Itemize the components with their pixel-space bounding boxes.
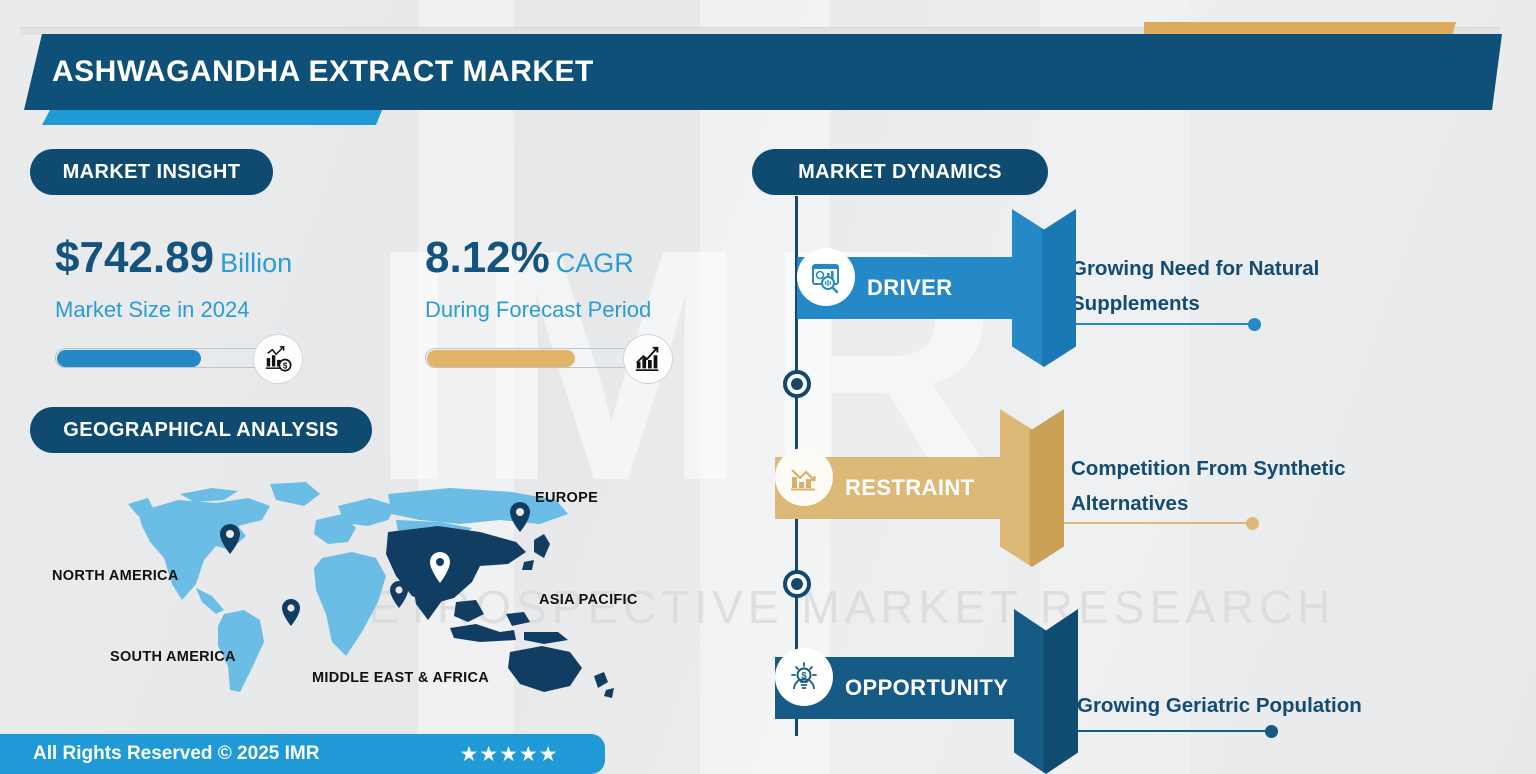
header-underline-accent bbox=[42, 110, 382, 125]
section-label-market-dynamics: MARKET DYNAMICS bbox=[752, 149, 1048, 195]
dynamics-text-opportunity: Growing Geriatric Population bbox=[1077, 688, 1437, 723]
page-title: ASHWAGANDHA EXTRACT MARKET bbox=[52, 52, 1252, 92]
infographic-canvas: IMR RETROSPECTIVE MARKET RESEARCH ASHWAG… bbox=[0, 0, 1536, 774]
rating-stars: ★★★★★ bbox=[459, 742, 558, 767]
kpi-value: $742.89 bbox=[55, 233, 214, 282]
kpi-caption: During Forecast Period bbox=[425, 297, 655, 323]
dynamics-rule-driver bbox=[1065, 323, 1255, 325]
svg-text:$: $ bbox=[283, 361, 288, 370]
ribbon-driver bbox=[1012, 209, 1076, 367]
kpi-unit: CAGR bbox=[556, 248, 634, 278]
kpi-value-row: 8.12%CAGR bbox=[425, 232, 655, 289]
dynamics-label-driver: DRIVER bbox=[867, 275, 953, 301]
map-label-europe: EUROPE bbox=[535, 490, 598, 506]
ribbon-opportunity bbox=[1014, 609, 1078, 774]
section-label-market-insight: MARKET INSIGHT bbox=[30, 149, 273, 195]
footer-bar: All Rights Reserved © 2025 IMR ★★★★★ bbox=[0, 734, 605, 774]
lightbulb-dollar-icon: $ bbox=[775, 648, 833, 706]
progress-fill bbox=[57, 350, 201, 367]
timeline-node bbox=[783, 570, 811, 598]
declining-bar-chart-icon bbox=[775, 448, 833, 506]
map-label-middle-east-africa: MIDDLE EAST & AFRICA bbox=[312, 670, 489, 686]
dynamics-text-driver: Growing Need for Natural Supplements bbox=[1071, 251, 1401, 321]
dynamics-row-opportunity[interactable]: $ OPPORTUNITY bbox=[775, 657, 1040, 719]
map-label-north-america: NORTH AMERICA bbox=[52, 568, 179, 584]
copyright-text: All Rights Reserved © 2025 IMR bbox=[33, 743, 319, 765]
header-gold-accent bbox=[1144, 22, 1444, 36]
dynamics-row-restraint[interactable]: RESTRAINT bbox=[775, 457, 1035, 519]
kpi-cagr: 8.12%CAGR During Forecast Period bbox=[425, 232, 655, 373]
dynamics-rule-opportunity bbox=[1072, 730, 1272, 732]
dynamics-label-opportunity: OPPORTUNITY bbox=[845, 675, 1008, 701]
kpi-progress bbox=[425, 343, 655, 373]
kpi-value: 8.12% bbox=[425, 233, 550, 282]
progress-fill bbox=[427, 350, 575, 367]
growth-chart-icon bbox=[623, 334, 673, 384]
map-label-south-america: SOUTH AMERICA bbox=[110, 649, 236, 665]
map-label-asia-pacific: ASIA PACIFIC bbox=[539, 592, 638, 608]
dynamics-text-restraint: Competition From Synthetic Alternatives bbox=[1071, 451, 1411, 521]
ribbon-restraint bbox=[1000, 409, 1064, 567]
report-magnifier-icon bbox=[797, 248, 855, 306]
kpi-value-row: $742.89Billion bbox=[55, 232, 292, 289]
dynamics-label-restraint: RESTRAINT bbox=[845, 475, 975, 501]
kpi-caption: Market Size in 2024 bbox=[55, 297, 292, 323]
kpi-market-size: $742.89Billion Market Size in 2024 $ bbox=[55, 232, 292, 373]
kpi-unit: Billion bbox=[220, 248, 292, 278]
bar-chart-dollar-icon: $ bbox=[253, 334, 303, 384]
timeline-node bbox=[783, 370, 811, 398]
kpi-progress: $ bbox=[55, 343, 285, 373]
dynamics-rule-restraint bbox=[1053, 522, 1253, 524]
section-label-geographical-analysis: GEOGRAPHICAL ANALYSIS bbox=[30, 407, 372, 453]
dynamics-row-driver[interactable]: DRIVER bbox=[797, 257, 1047, 319]
